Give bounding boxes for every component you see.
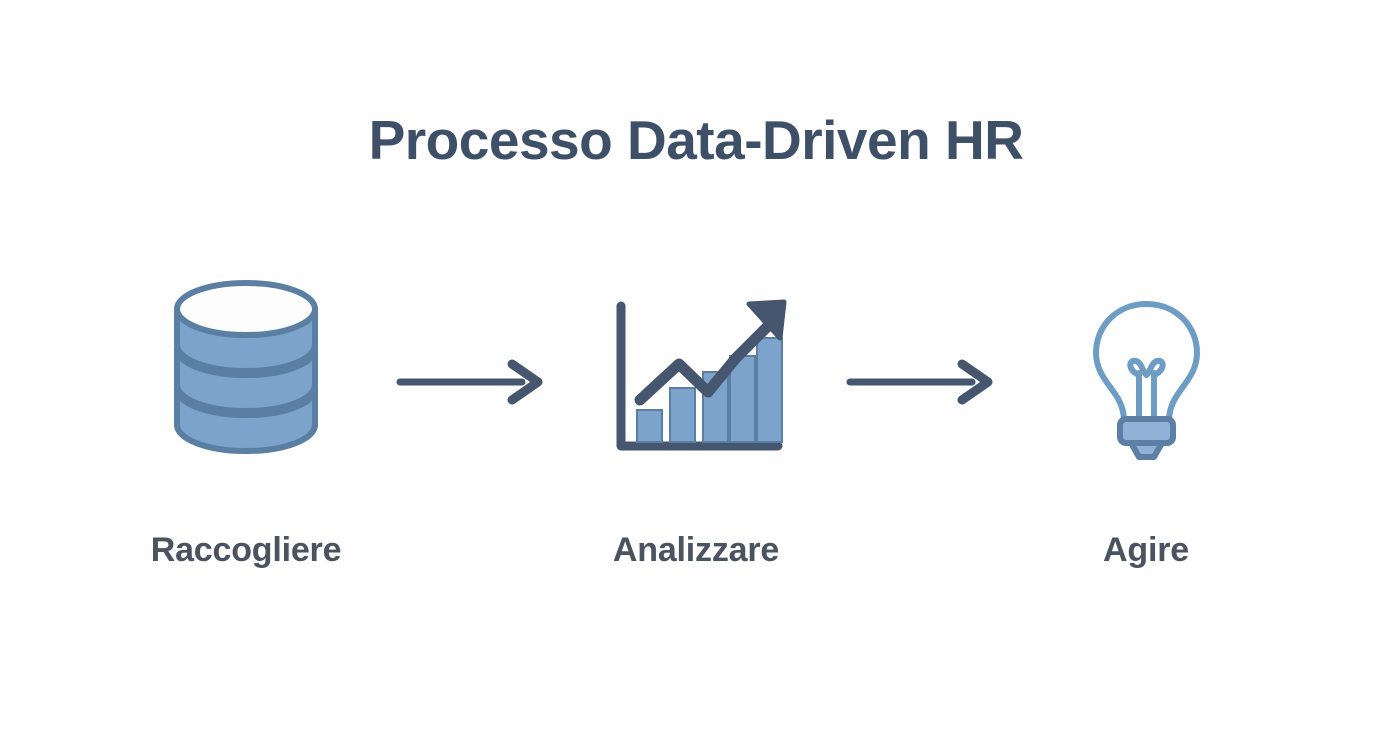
flow-step-act[interactable] bbox=[1041, 287, 1251, 477]
page-title: Processo Data-Driven HR bbox=[0, 110, 1392, 171]
lightbulb-icon bbox=[1084, 297, 1209, 467]
bar-chart-growth-icon bbox=[604, 300, 789, 465]
database-icon bbox=[159, 297, 334, 467]
process-flow bbox=[0, 282, 1392, 482]
flow-step-collect[interactable] bbox=[141, 287, 351, 477]
step-label-collect: Raccogliere bbox=[141, 531, 351, 570]
step-label-analyze: Analizzare bbox=[591, 531, 801, 570]
arrow-right-icon bbox=[846, 360, 996, 404]
bar-5 bbox=[757, 338, 782, 442]
arrow-right-icon bbox=[396, 360, 546, 404]
flow-connector-1 bbox=[351, 352, 591, 412]
slide-canvas: Processo Data-Driven HR bbox=[0, 0, 1392, 752]
flow-connector-2 bbox=[801, 352, 1041, 412]
flow-step-analyze[interactable] bbox=[591, 287, 801, 477]
process-labels: Raccogliere Analizzare Agire bbox=[0, 515, 1392, 585]
step-label-act: Agire bbox=[1041, 531, 1251, 570]
bar-2 bbox=[670, 388, 695, 442]
bar-1 bbox=[637, 410, 662, 442]
